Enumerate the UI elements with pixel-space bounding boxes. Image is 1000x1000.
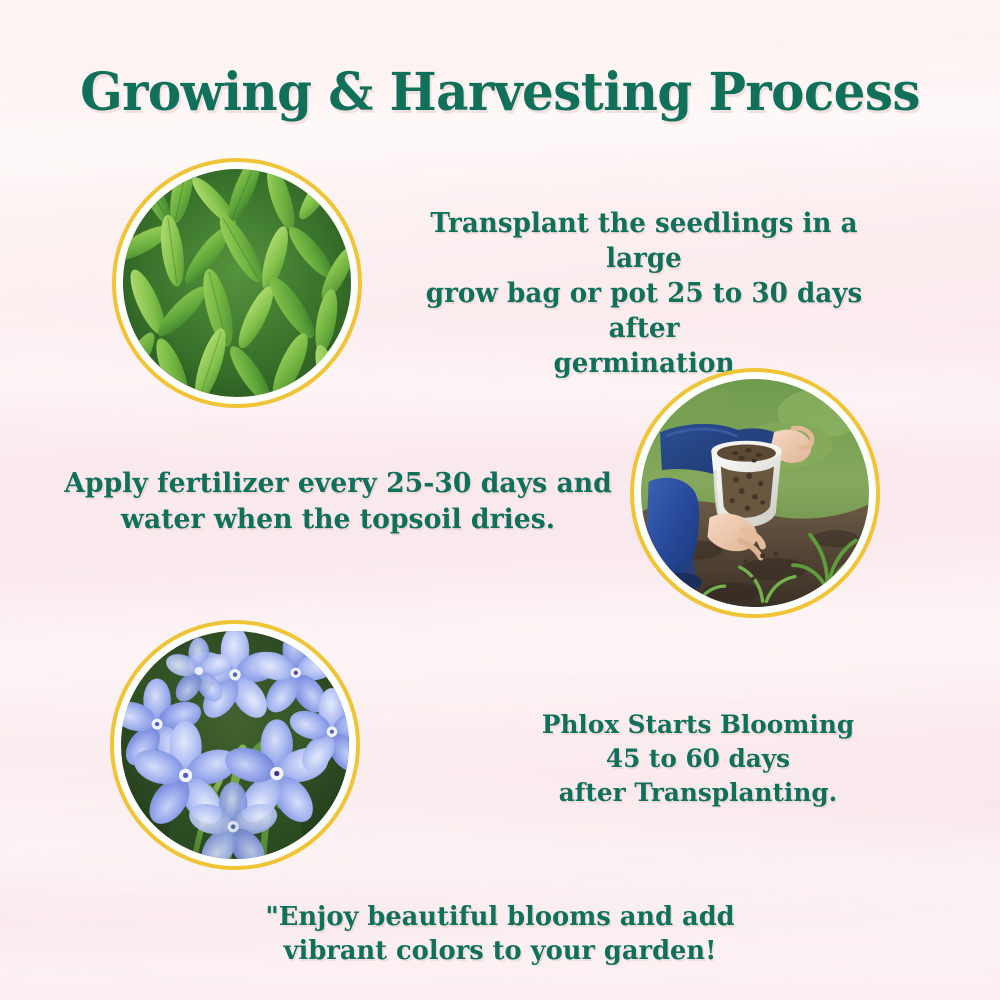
fertilizing-illustration (641, 379, 869, 607)
bloom-line-2: 45 to 60 days (502, 742, 894, 776)
bloom-line-3: after Transplanting. (502, 776, 894, 810)
closing-line-2: vibrant colors to your garden! (232, 934, 767, 968)
applying-fertilizer-photo (630, 368, 880, 618)
poster-title: Growing & Harvesting Process (20, 62, 980, 123)
transplant-line-2: grow bag or pot 25 to 30 days after (396, 276, 893, 346)
applying-fertilizer-disc (641, 379, 869, 607)
foliage-illustration (123, 169, 351, 397)
fertilizer-line-2: water when the topsoil dries. (57, 502, 620, 538)
transplant-instruction-text: Transplant the seedlings in a large grow… (396, 206, 893, 381)
bloom-line-1: Phlox Starts Blooming (502, 708, 894, 742)
transplant-line-3: germination (396, 346, 893, 381)
phlox-bloom-illustration (121, 631, 349, 859)
closing-message-text: "Enjoy beautiful blooms and add vibrant … (232, 900, 767, 969)
transplant-line-1: Transplant the seedlings in a large (396, 206, 893, 276)
closing-line-1: "Enjoy beautiful blooms and add (232, 900, 767, 934)
phlox-foliage-disc (123, 169, 351, 397)
infographic-poster: Growing & Harvesting Process (0, 0, 1000, 1000)
phlox-foliage-photo (112, 158, 362, 408)
fertilizer-instruction-text: Apply fertilizer every 25-30 days and wa… (57, 466, 620, 538)
fertilizer-line-1: Apply fertilizer every 25-30 days and (57, 466, 620, 502)
blue-phlox-blooms-photo (110, 620, 360, 870)
bloom-timing-text: Phlox Starts Blooming 45 to 60 days afte… (502, 708, 894, 810)
blue-phlox-blooms-disc (121, 631, 349, 859)
